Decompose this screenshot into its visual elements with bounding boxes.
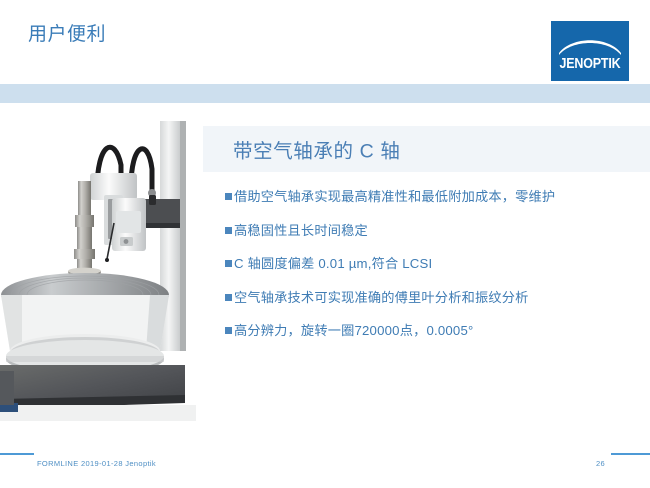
footer-rule-left xyxy=(0,453,34,455)
square-bullet-icon xyxy=(225,260,232,267)
slide: 用户便利 JENOPTIK xyxy=(0,0,650,488)
square-bullet-icon xyxy=(225,227,232,234)
logo-wordmark: JENOPTIK xyxy=(556,56,623,72)
square-bullet-icon xyxy=(225,294,232,301)
header-accent-band xyxy=(0,84,650,103)
page-title: 用户便利 xyxy=(28,22,106,48)
page-number: 26 xyxy=(596,459,605,468)
form-measuring-machine-photo xyxy=(0,103,196,421)
list-item: 借助空气轴承实现最高精准性和最低附加成本，零维护 xyxy=(225,188,640,206)
list-item-label: 借助空气轴承实现最高精准性和最低附加成本，零维护 xyxy=(234,188,640,206)
list-item-label: 高稳固性且长时间稳定 xyxy=(234,222,640,240)
jenoptik-logo: JENOPTIK xyxy=(551,21,629,81)
list-item-label: C 轴圆度偏差 0.01 µm,符合 LCSI xyxy=(234,255,640,273)
footer-meta: FORMLINE 2019-01-28 Jenoptik xyxy=(37,459,156,468)
section-title-band: 带空气轴承的 C 轴 xyxy=(203,126,650,172)
list-item-label: 高分辨力，旋转一圈720000点，0.0005° xyxy=(234,322,640,340)
bullet-list: 借助空气轴承实现最高精准性和最低附加成本，零维护 高稳固性且长时间稳定 C 轴圆… xyxy=(225,188,640,356)
arc-swoosh-icon xyxy=(558,33,622,55)
list-item: 高分辨力，旋转一圈720000点，0.0005° xyxy=(225,322,640,340)
square-bullet-icon xyxy=(225,327,232,334)
square-bullet-icon xyxy=(225,193,232,200)
list-item: 高稳固性且长时间稳定 xyxy=(225,222,640,240)
list-item-label: 空气轴承技术可实现准确的傅里叶分析和振纹分析 xyxy=(234,289,640,307)
list-item: 空气轴承技术可实现准确的傅里叶分析和振纹分析 xyxy=(225,289,640,307)
list-item: C 轴圆度偏差 0.01 µm,符合 LCSI xyxy=(225,255,640,273)
footer-rule-right xyxy=(611,453,650,455)
section-title: 带空气轴承的 C 轴 xyxy=(233,135,400,164)
